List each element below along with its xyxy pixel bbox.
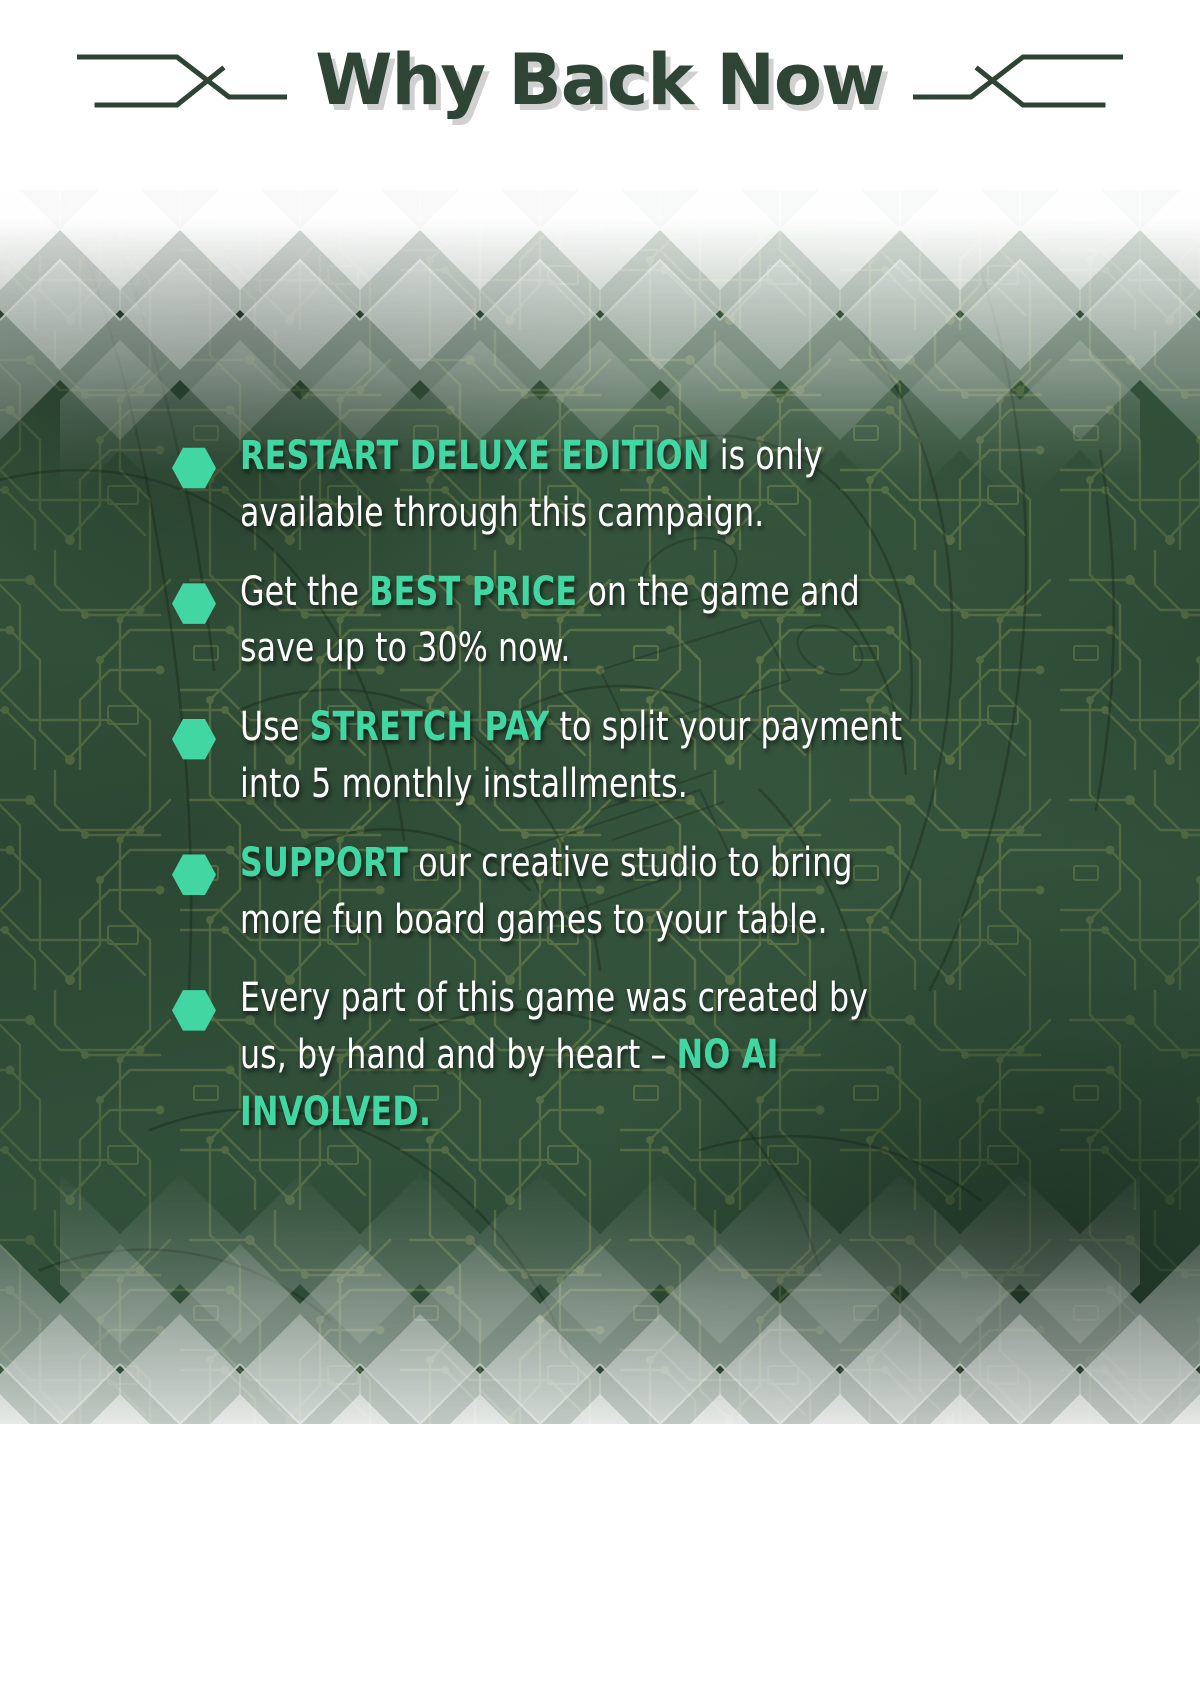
hexagon-bullet-icon xyxy=(168,428,224,502)
hexagon-shape xyxy=(172,853,216,897)
hexagon-bullet-icon xyxy=(168,699,224,773)
benefit-highlight-text: RESTART DELUXE EDITION xyxy=(240,433,710,479)
benefit-highlight-text: BEST PRICE xyxy=(369,569,577,615)
benefit-item: Get the BEST PRICE on the game and save … xyxy=(168,564,998,678)
poster: Why Back Now RESTART DELUXE EDITION is o… xyxy=(0,0,1200,1684)
benefit-highlight-text: SUPPORT xyxy=(240,840,408,886)
hexagon-bullet-icon xyxy=(168,835,224,909)
benefit-text: Every part of this game was created by u… xyxy=(240,970,907,1140)
benefits-list: RESTART DELUXE EDITION is only available… xyxy=(168,428,998,1141)
benefit-item: Use STRETCH PAY to split your payment in… xyxy=(168,699,998,813)
hexagon-shape xyxy=(172,582,216,626)
benefit-text: Get the BEST PRICE on the game and save … xyxy=(240,564,907,678)
benefit-plain-text: Use xyxy=(240,704,310,750)
hexagon-shape xyxy=(172,988,216,1032)
hexagon-bullet-icon xyxy=(168,970,224,1044)
benefit-item: SUPPORT our creative studio to bring mor… xyxy=(168,835,998,949)
hexagon-bullet-icon xyxy=(168,564,224,638)
hexagon-shape xyxy=(172,446,216,490)
benefit-plain-text: Get the xyxy=(240,569,369,615)
benefit-text: SUPPORT our creative studio to bring mor… xyxy=(240,835,907,949)
page-title: Why Back Now xyxy=(287,45,912,115)
header: Why Back Now xyxy=(0,0,1200,160)
benefit-highlight-text: STRETCH PAY xyxy=(310,704,550,750)
header-left-decoration-icon xyxy=(77,35,287,125)
benefit-text: Use STRETCH PAY to split your payment in… xyxy=(240,699,907,813)
benefit-item: Every part of this game was created by u… xyxy=(168,970,998,1140)
header-right-decoration-icon xyxy=(913,35,1123,125)
benefit-item: RESTART DELUXE EDITION is only available… xyxy=(168,428,998,542)
hexagon-shape xyxy=(172,717,216,761)
benefit-text: RESTART DELUXE EDITION is only available… xyxy=(240,428,907,542)
